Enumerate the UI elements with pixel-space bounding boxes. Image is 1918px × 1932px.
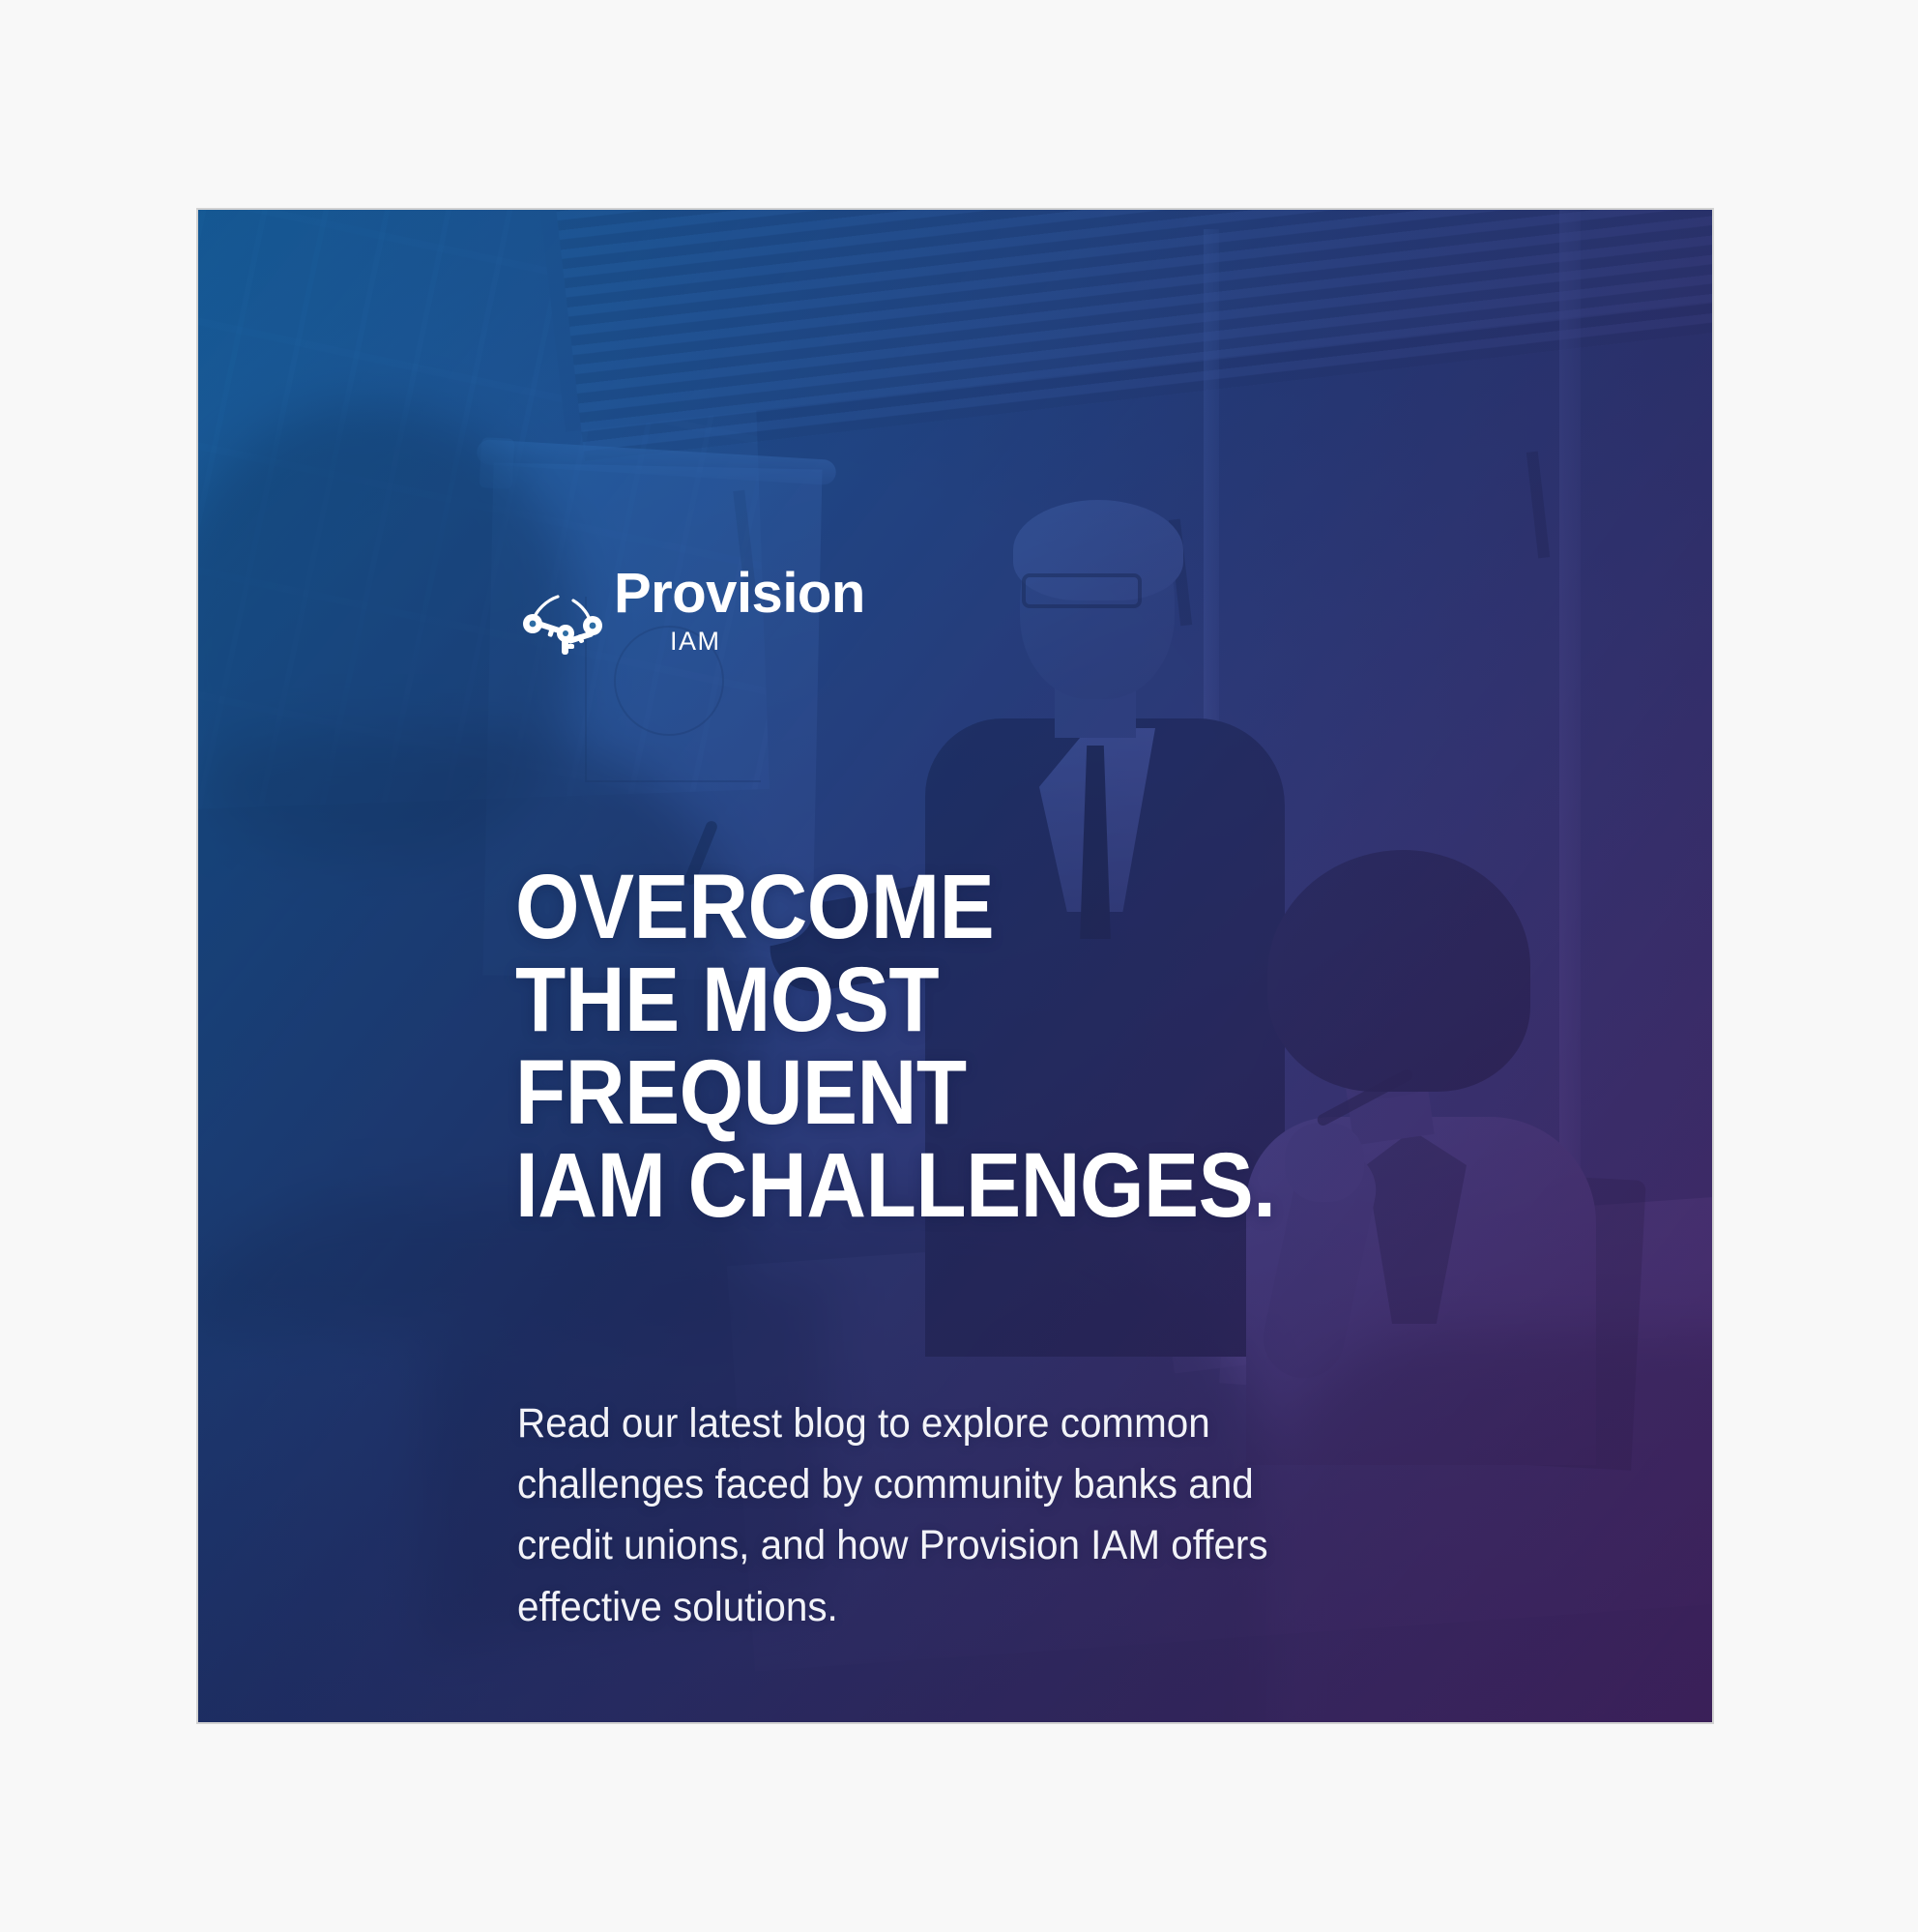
headline-line-3: FREQUENT	[515, 1047, 1351, 1140]
provision-iam-logo[interactable]: Provision IAM	[517, 566, 807, 655]
body-line-4: effective solutions.	[517, 1577, 1317, 1638]
body-copy: Read our latest blog to explore common c…	[517, 1393, 1317, 1638]
headline-line-2: THE MOST	[515, 954, 1351, 1047]
headline-line-4: IAM CHALLENGES.	[515, 1140, 1351, 1233]
headline-line-1: OVERCOME	[515, 862, 1351, 954]
body-line-2: challenges faced by community banks and	[517, 1454, 1317, 1515]
logo-subtitle: IAM	[670, 629, 805, 655]
creative-content: Provision IAM OVERCOME THE MOST FREQUENT…	[198, 210, 1712, 1722]
headline: OVERCOME THE MOST FREQUENT IAM CHALLENGE…	[515, 862, 1351, 1233]
logo-wordmark: Provision IAM	[535, 566, 805, 655]
body-line-1: Read our latest blog to explore common	[517, 1393, 1317, 1454]
logo-name: Provision	[614, 566, 805, 622]
body-line-3: credit unions, and how Provision IAM off…	[517, 1515, 1317, 1576]
promo-creative-card: Provision IAM OVERCOME THE MOST FREQUENT…	[198, 210, 1712, 1722]
